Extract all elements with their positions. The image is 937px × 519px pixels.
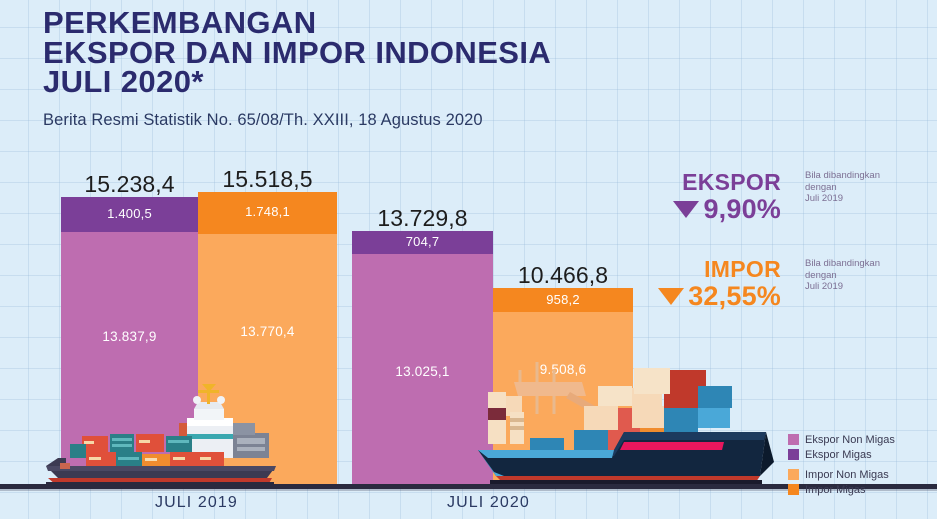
stat-ekspor-note-line-1: Bila dibandingkan (805, 170, 880, 182)
bar-segment-label: 13.837,9 (61, 329, 198, 344)
axis-label-juli-2020: JULI 2020 (447, 494, 530, 512)
bar-segment-ekspor-migas: 704,7 (352, 231, 493, 254)
stat-ekspor-label: EKSPOR (626, 170, 781, 194)
bar-segment-ekspor-migas: 1.400,5 (61, 197, 198, 232)
bar-segment-label: 958,2 (493, 292, 633, 307)
bar-total-label: 10.466,8 (493, 262, 633, 289)
stat-impor-note-line-1: Bila dibandingkan (805, 258, 880, 270)
bar-segment-label: 13.770,4 (198, 324, 337, 339)
stat-impor-value-row: 32,55% (626, 283, 781, 310)
bar-segment-impor-migas: 958,2 (493, 288, 633, 312)
stat-impor: IMPOR 32,55% (626, 257, 781, 310)
bar-segment-label: 1.400,5 (61, 206, 198, 221)
legend-label: Ekspor Non Migas (805, 434, 895, 446)
bar-total-label: 13.729,8 (352, 205, 493, 232)
bar-segment-label: 1.748,1 (198, 204, 337, 219)
arrow-down-icon (673, 201, 699, 218)
legend-label: Impor Non Migas (805, 469, 889, 481)
stat-ekspor: EKSPOR 9,90% (626, 170, 781, 223)
stat-ekspor-note-line-2: dengan (805, 182, 880, 194)
legend-item-impor-non-migas: Impor Non Migas (788, 467, 895, 482)
legend-swatch-icon (788, 449, 799, 460)
stat-impor-label: IMPOR (626, 257, 781, 281)
bar-segment-label: 13.025,1 (352, 364, 493, 379)
infographic-canvas: PERKEMBANGAN EKSPOR DAN IMPOR INDONESIA … (0, 0, 937, 519)
legend-swatch-icon (788, 469, 799, 480)
bar-ekspor-juli-2020: 704,7 13.025,1 (352, 231, 493, 484)
legend-item-ekspor-non-migas: Ekspor Non Migas (788, 432, 895, 447)
legend-swatch-icon (788, 434, 799, 445)
stat-ekspor-note: Bila dibandingkan dengan Juli 2019 (805, 170, 880, 205)
stat-impor-value: 32,55% (688, 283, 781, 310)
cargo-ship-illustration-right (474, 352, 784, 488)
stat-impor-note-line-2: dengan (805, 270, 880, 282)
cargo-ship-illustration-left (24, 378, 292, 486)
stat-ekspor-value-row: 9,90% (626, 196, 781, 223)
stat-ekspor-value: 9,90% (703, 196, 781, 223)
legend-swatch-icon (788, 484, 799, 495)
axis-label-juli-2019: JULI 2019 (155, 494, 238, 512)
bar-segment-ekspor-non-migas: 13.025,1 (352, 254, 493, 484)
stat-impor-note: Bila dibandingkan dengan Juli 2019 (805, 258, 880, 293)
bar-total-label: 15.238,4 (61, 171, 198, 198)
legend-label: Impor Migas (805, 484, 866, 496)
bar-segment-label: 704,7 (352, 234, 493, 249)
bar-total-label: 15.518,5 (198, 166, 337, 193)
arrow-down-icon (658, 288, 684, 305)
legend-item-impor-migas: Impor Migas (788, 482, 895, 497)
bar-segment-impor-migas: 1.748,1 (198, 192, 337, 234)
legend-item-ekspor-migas: Ekspor Migas (788, 447, 895, 462)
chart-legend: Ekspor Non Migas Ekspor Migas Impor Non … (788, 432, 895, 497)
legend-label: Ekspor Migas (805, 449, 872, 461)
stat-ekspor-note-line-3: Juli 2019 (805, 193, 880, 205)
stat-impor-note-line-3: Juli 2019 (805, 281, 880, 293)
